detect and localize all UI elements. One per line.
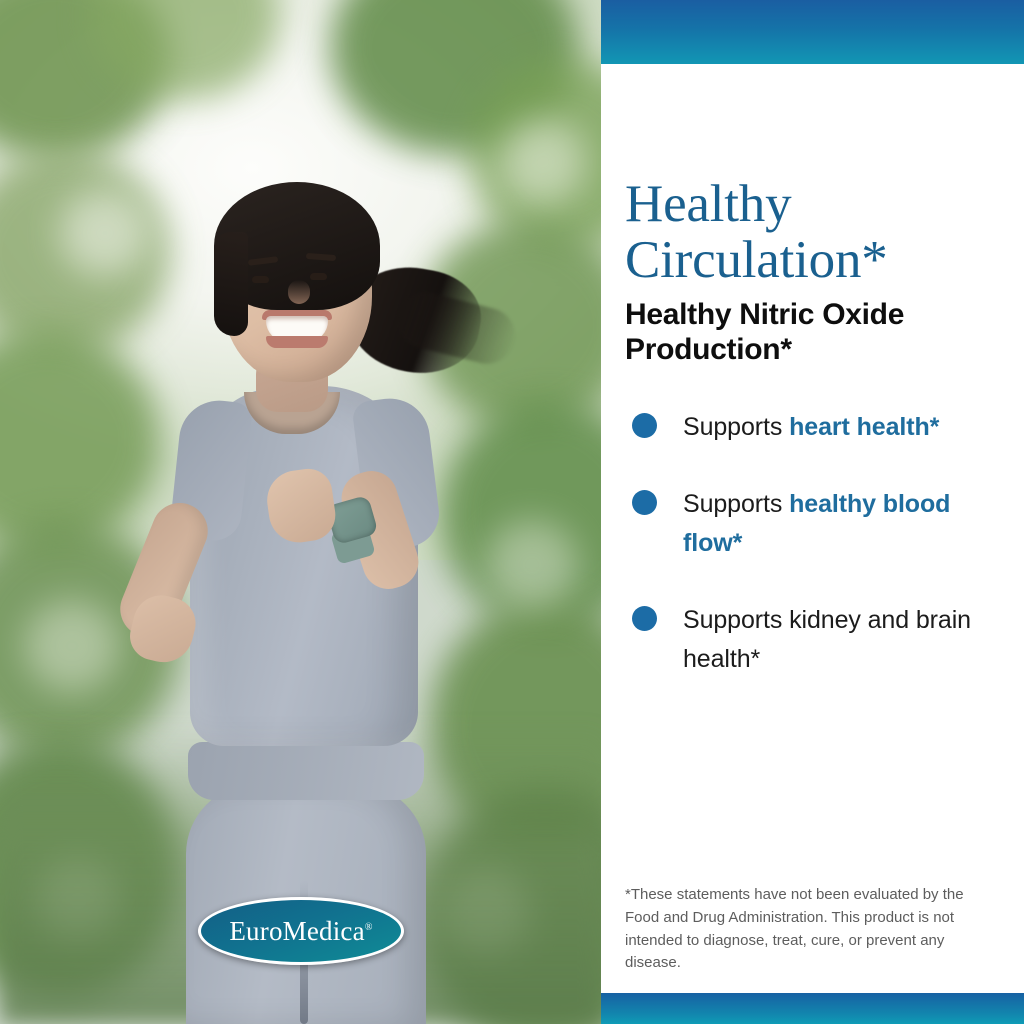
top-accent-bar — [601, 0, 1024, 64]
bullet-dot-icon — [632, 606, 657, 631]
bottom-accent-bar — [601, 993, 1024, 1024]
benefits-list: Supports heart health* Supports healthy … — [625, 408, 997, 679]
runner-figure — [0, 0, 601, 1024]
benefit-text: Supports heart health* — [683, 408, 939, 447]
page-subtitle: Healthy Nitric Oxide Production* — [625, 298, 997, 368]
euromedica-logo: EuroMedica® — [198, 897, 404, 965]
lifestyle-photo: EuroMedica® — [0, 0, 601, 1024]
list-item: Supports heart health* — [625, 408, 997, 447]
registered-mark: ® — [365, 922, 373, 933]
bullet-dot-icon — [632, 490, 657, 515]
list-item: Supports kidney and brain health* — [625, 601, 997, 679]
list-item: Supports healthy blood flow* — [625, 485, 997, 563]
logo-wordmark: EuroMedica® — [229, 918, 372, 945]
panel-content: Healthy Circulation* Healthy Nitric Oxid… — [625, 176, 997, 717]
fda-disclaimer: *These statements have not been evaluate… — [625, 884, 997, 975]
bullet-dot-icon — [632, 413, 657, 438]
advertisement-canvas: EuroMedica® Healthy Circulation* Healthy… — [0, 0, 1024, 1024]
page-title: Healthy Circulation* — [625, 176, 997, 288]
benefit-highlight: heart health* — [789, 413, 939, 441]
benefit-text: Supports kidney and brain health* — [683, 601, 983, 679]
benefit-text: Supports healthy blood flow* — [683, 485, 983, 563]
